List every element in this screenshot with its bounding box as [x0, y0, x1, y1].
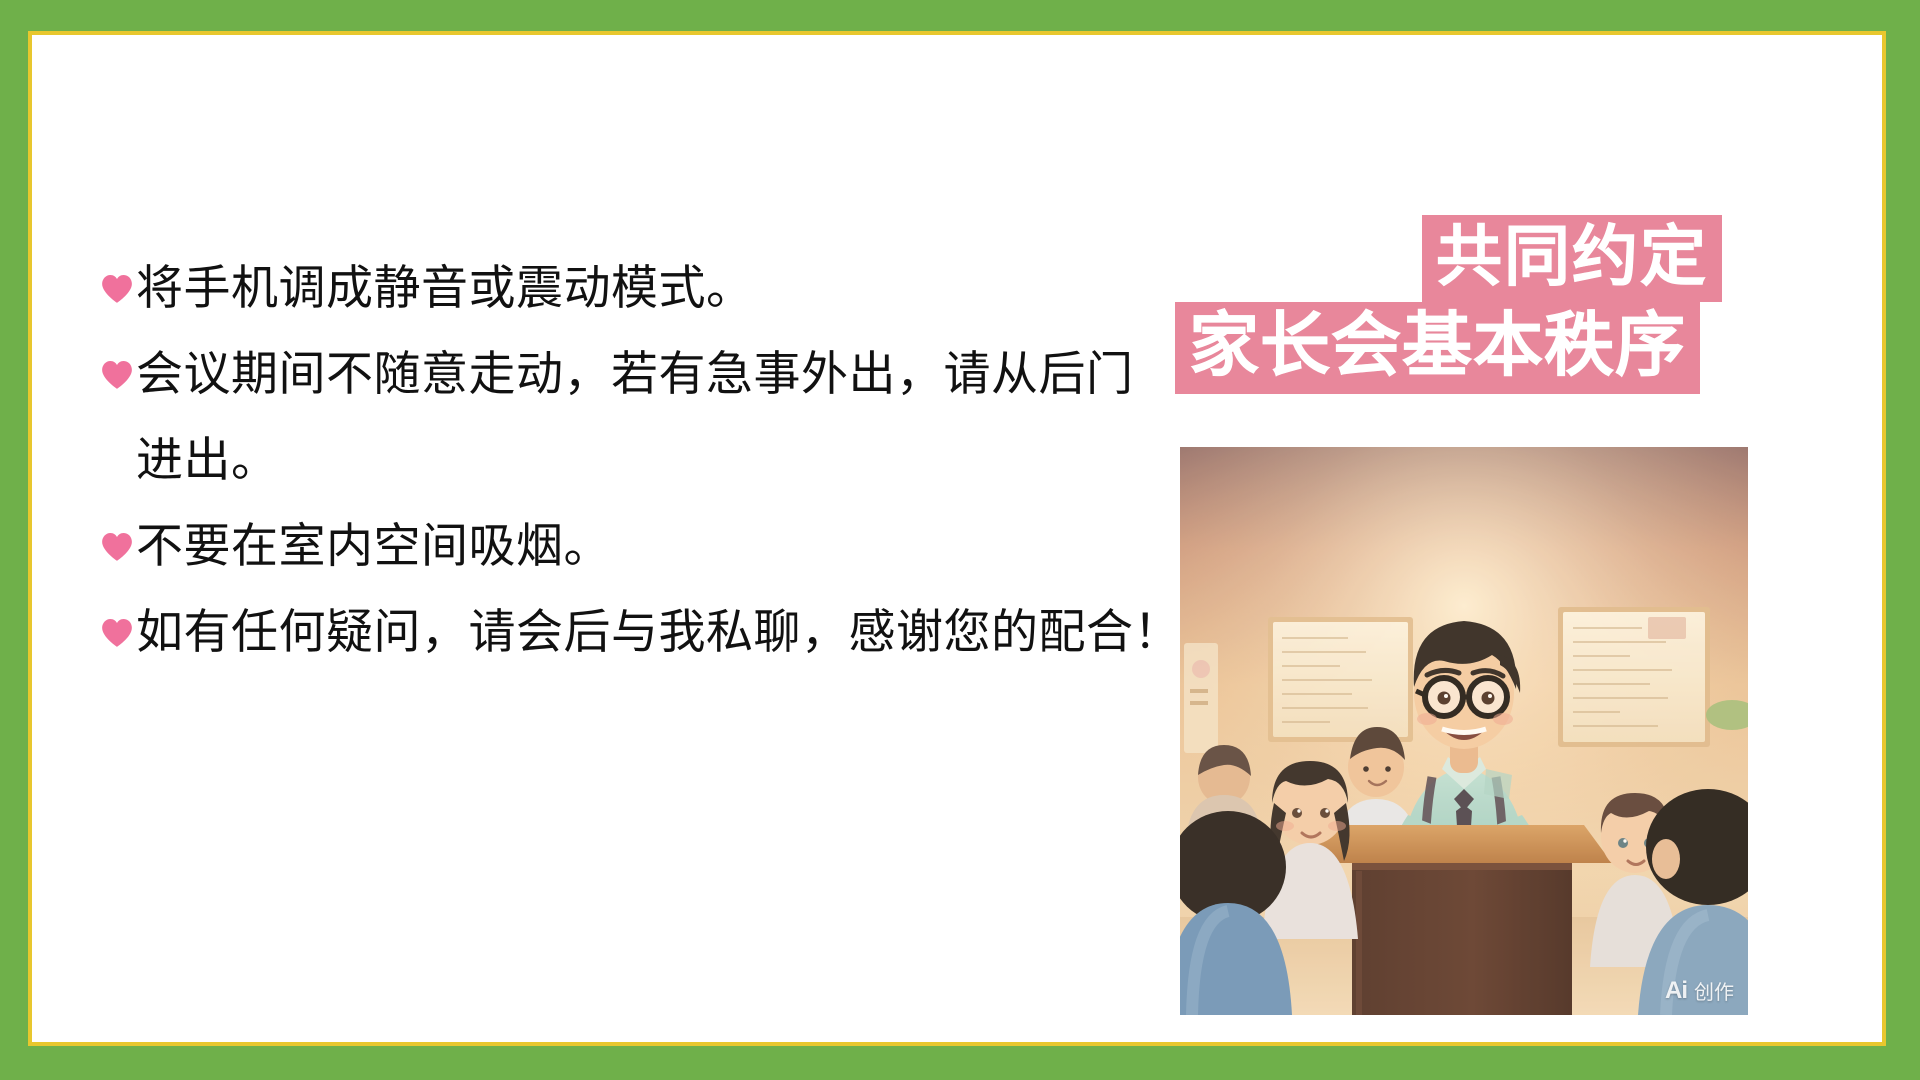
title-row-1: 共同约定 — [1175, 215, 1745, 302]
bullet-line: 如有任何疑问，请会后与我私聊，感谢您的配合！ — [100, 589, 1180, 675]
slide-canvas: 将手机调成静音或震动模式。 会议期间不随意走动，若有急事外出，请从后门 进出。 … — [32, 35, 1882, 1042]
page-title-line1: 共同约定 — [1422, 215, 1722, 302]
bullet-line-text: 如有任何疑问，请会后与我私聊，感谢您的配合！ — [136, 605, 1181, 658]
heart-icon — [100, 616, 134, 650]
heart-icon — [100, 530, 134, 564]
page-title-line2: 家长会基本秩序 — [1175, 302, 1700, 394]
heart-icon — [100, 358, 134, 392]
title-row-2: 家长会基本秩序 — [1175, 302, 1745, 394]
body-text-block: 将手机调成静音或震动模式。 会议期间不随意走动，若有急事外出，请从后门 进出。 … — [100, 245, 1180, 675]
illustration-image: Ai 创作 — [1180, 447, 1748, 1015]
bullet-line-text: 不要在室内空间吸烟。 — [136, 519, 611, 572]
heart-icon — [100, 272, 134, 306]
slide-root: 将手机调成静音或震动模式。 会议期间不随意走动，若有急事外出，请从后门 进出。 … — [0, 0, 1920, 1080]
bullet-line: 不要在室内空间吸烟。 — [100, 503, 1180, 589]
wrapped-line-text: 进出。 — [136, 433, 279, 486]
bullet-line-text: 将手机调成静音或震动模式。 — [136, 261, 754, 314]
bullet-line: 将手机调成静音或震动模式。 — [100, 245, 1180, 331]
wrapped-line: 进出。 — [100, 417, 1180, 503]
bullet-line-text: 会议期间不随意走动，若有急事外出，请从后门 — [136, 347, 1134, 400]
title-block: 共同约定 家长会基本秩序 — [1175, 215, 1745, 394]
bullet-line: 会议期间不随意走动，若有急事外出，请从后门 — [100, 331, 1180, 417]
